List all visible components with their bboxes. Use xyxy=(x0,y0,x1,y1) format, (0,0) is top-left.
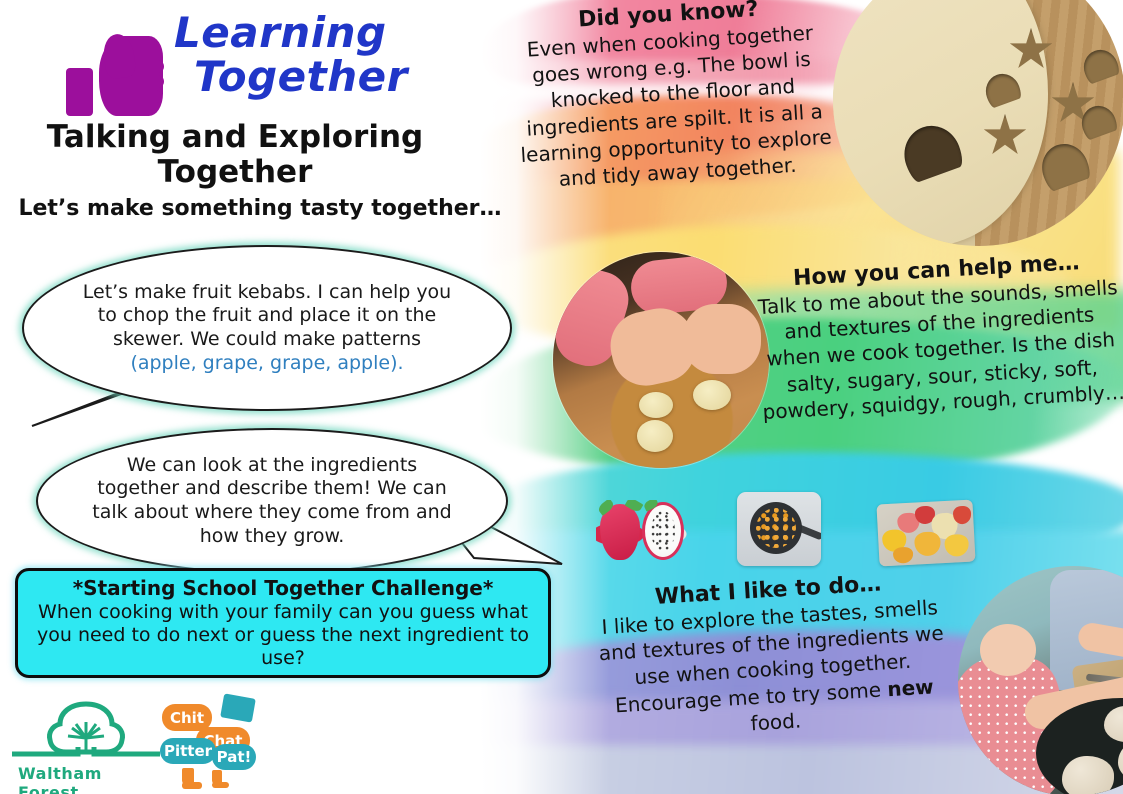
like-body-part2: food. xyxy=(750,708,802,735)
waltham-forest-logo: Waltham Forest xyxy=(12,698,160,788)
hand xyxy=(683,304,761,374)
how-you-can-help-me-body: Talk to me about the sounds, smells and … xyxy=(754,274,1123,425)
child-chopping-banana-photo xyxy=(553,252,769,468)
banana-slice xyxy=(693,380,731,410)
how-you-can-help-me-panel: How you can help me… Talk to me about th… xyxy=(753,248,1123,425)
did-you-know-body: Even when cooking together goes wrong e.… xyxy=(508,19,839,195)
like-body-bold: new xyxy=(887,674,935,701)
challenge-title: *Starting School Together Challenge* xyxy=(73,576,494,600)
tomato xyxy=(953,506,972,525)
pan-contents xyxy=(756,508,796,548)
learning-together-logo: Learning Together xyxy=(66,8,426,126)
child-head xyxy=(980,624,1036,676)
pepper xyxy=(914,531,941,556)
pat-bubble: Pat! xyxy=(212,744,256,770)
peppers-tomatoes-photo xyxy=(876,500,975,567)
banana-slice xyxy=(637,420,673,452)
challenge-body: When cooking with your family can you gu… xyxy=(18,601,548,669)
did-you-know-panel: Did you know? Even when cooking together… xyxy=(507,0,839,195)
logo-line-1: Learning xyxy=(174,8,387,57)
pepper xyxy=(893,547,914,564)
logo-line-2: Together xyxy=(194,52,408,101)
frying-pan-food-photo xyxy=(737,492,821,566)
cookie-dough-cutouts-photo xyxy=(833,0,1123,246)
thumbs-up-icon xyxy=(66,36,164,116)
bubble-1-main: Let’s make fruit kebabs. I can help you … xyxy=(83,281,451,351)
boot-icon xyxy=(182,782,202,789)
dough-ball xyxy=(1062,756,1114,794)
speech-bubble-1: Let’s make fruit kebabs. I can help you … xyxy=(22,245,512,411)
poster: Learning Together Talking and Exploring … xyxy=(0,0,1123,794)
what-i-like-to-do-panel: What I like to do… I like to explore the… xyxy=(592,568,953,746)
speech-bubble-1-text: Let’s make fruit kebabs. I can help you … xyxy=(24,281,510,376)
footer-logos: Waltham Forest Chit Chat Pitter Pat! SEN… xyxy=(0,690,560,794)
page-title: Talking and Exploring Together xyxy=(0,120,470,191)
speech-bubble-2: We can look at the ingredients together … xyxy=(36,428,508,574)
book-icon xyxy=(220,693,256,722)
page-subtitle: Let’s make something tasty together… xyxy=(0,196,520,221)
dragon-fruit-photo xyxy=(596,500,696,562)
waltham-forest-label: Waltham Forest xyxy=(18,764,160,794)
boot-icon xyxy=(212,782,229,788)
what-i-like-to-do-body: I like to explore the tastes, smells and… xyxy=(593,594,952,746)
speech-bubble-2-text: We can look at the ingredients together … xyxy=(38,454,506,549)
banana-slice xyxy=(639,392,673,418)
challenge-box: *Starting School Together Challenge* Whe… xyxy=(15,568,551,678)
chit-chat-pitter-pat-logo: Chit Chat Pitter Pat! xyxy=(160,694,266,786)
tree-icon xyxy=(12,698,160,770)
pepper xyxy=(944,534,969,557)
pitter-bubble: Pitter xyxy=(160,738,216,764)
bubble-1-highlight: (apple, grape, grape, apple). xyxy=(130,352,403,374)
